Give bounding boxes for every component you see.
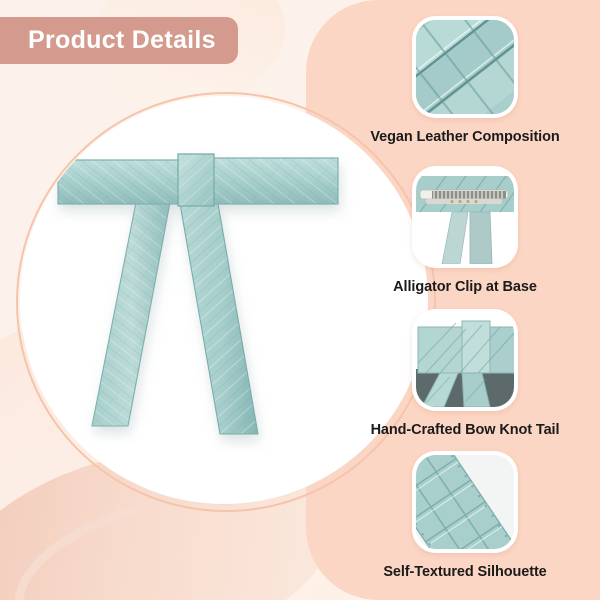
thumb-bow-knot-tail[interactable] xyxy=(412,309,518,411)
feature-list: Vegan Leather Composition xyxy=(330,0,600,600)
page-title: Product Details xyxy=(28,26,216,55)
bow-tail-right xyxy=(178,192,258,434)
thumb-vegan-leather[interactable] xyxy=(412,16,518,118)
vegan-leather-texture-icon xyxy=(416,20,514,114)
feature-item-alligator-clip[interactable]: Alligator Clip at Base xyxy=(330,166,600,295)
self-textured-silhouette-icon xyxy=(416,455,514,549)
feature-label: Self-Textured Silhouette xyxy=(330,564,600,580)
bow-bar-left xyxy=(58,160,182,204)
bow-tail-left xyxy=(92,192,172,426)
feature-label: Vegan Leather Composition xyxy=(330,129,600,145)
bow-bar-right xyxy=(210,158,338,204)
feature-item-bow-knot-tail[interactable]: Hand-Crafted Bow Knot Tail xyxy=(330,309,600,438)
feature-label: Hand-Crafted Bow Knot Tail xyxy=(330,422,600,438)
alligator-clip-icon xyxy=(416,170,514,264)
bow-knot-tail-icon xyxy=(416,313,514,407)
page-title-banner: Product Details xyxy=(0,17,238,64)
product-details-infographic: Product Details xyxy=(0,0,600,600)
feature-item-self-textured[interactable]: Self-Textured Silhouette xyxy=(330,451,600,580)
thumb-alligator-clip[interactable] xyxy=(412,166,518,268)
feature-label: Alligator Clip at Base xyxy=(330,279,600,295)
feature-item-vegan-leather[interactable]: Vegan Leather Composition xyxy=(330,16,600,145)
bow-center-knot xyxy=(178,154,214,206)
thumb-self-textured[interactable] xyxy=(412,451,518,553)
